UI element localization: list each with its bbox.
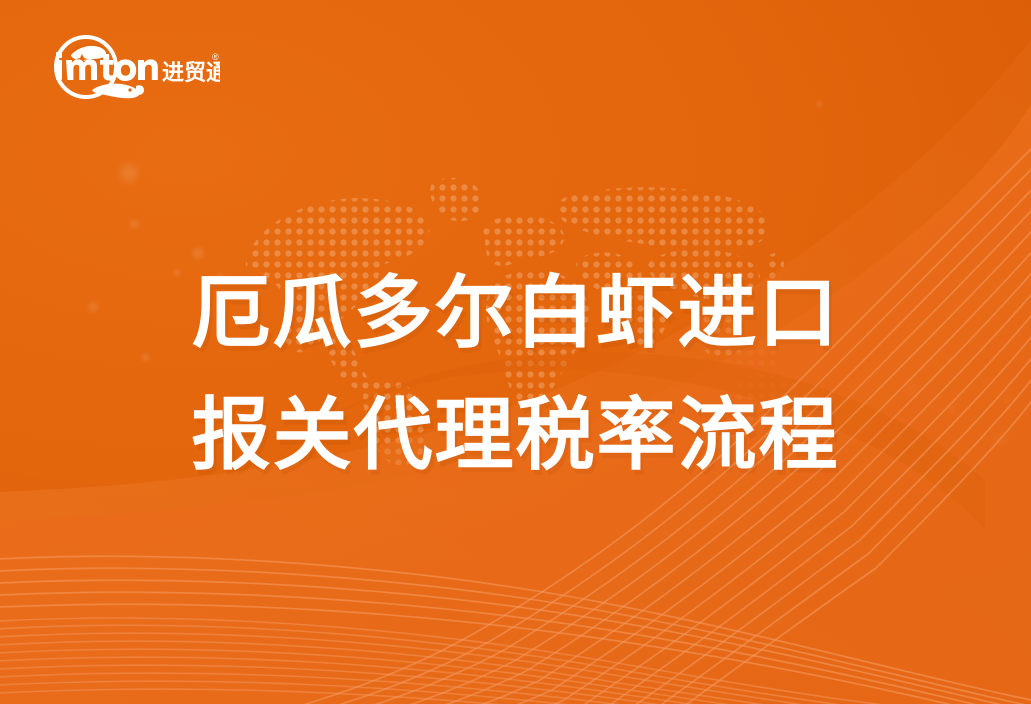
title-line-1: 厄瓜多尔白虾进口 [0,252,1031,374]
fish-icon [92,84,144,99]
logo-chinese-text: 进贸通 [162,60,220,85]
banner: 进贸通 ® 厄瓜多尔白虾进口 报关代理税率流程 [0,0,1031,704]
logo[interactable]: 进贸通 ® [40,28,220,106]
page-title: 厄瓜多尔白虾进口 报关代理税率流程 [0,252,1031,496]
title-line-2: 报关代理税率流程 [0,374,1031,496]
imton-logo-mark: 进贸通 ® [40,28,220,106]
logo-trademark-symbol: ® [212,52,219,62]
